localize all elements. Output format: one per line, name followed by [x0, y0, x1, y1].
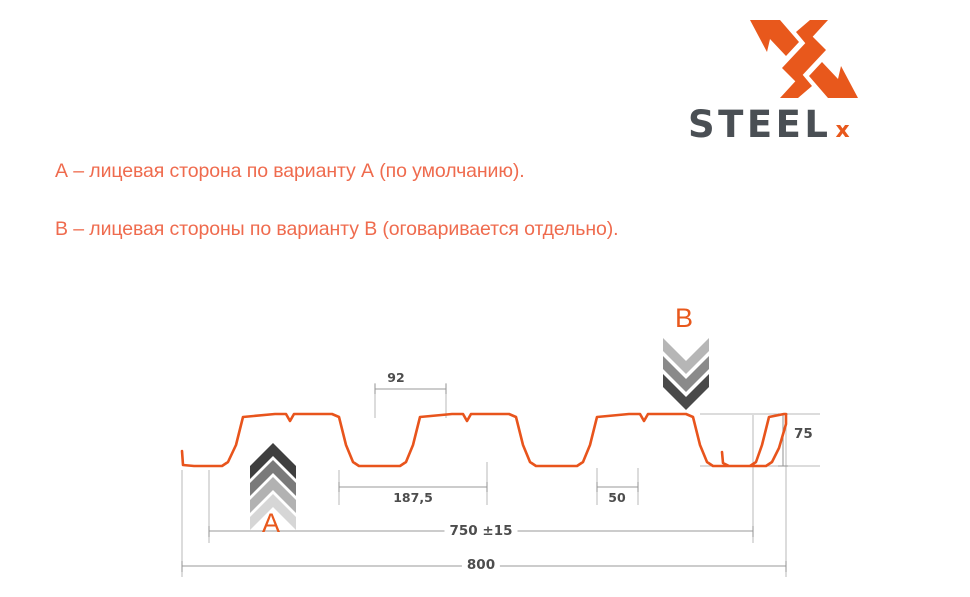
marker-label-b: В: [675, 305, 693, 332]
dimension-label-profile-height: 75: [789, 428, 818, 442]
dimension-extension-lines: [182, 383, 820, 577]
dimension-label-rib-top-width: 92: [382, 372, 409, 385]
marker-label-a: А: [262, 510, 280, 537]
profile-outline: [182, 414, 786, 466]
dimension-label-overall-width: 800: [462, 559, 500, 573]
dimension-label-rib-pitch: 187,5: [388, 492, 438, 505]
dimension-label-valley-width: 50: [603, 492, 630, 505]
dimension-label-effective-width: 750 ±15: [445, 525, 518, 539]
profile-drawing: [0, 0, 970, 597]
marker-b-chevron-icon: [663, 338, 709, 410]
